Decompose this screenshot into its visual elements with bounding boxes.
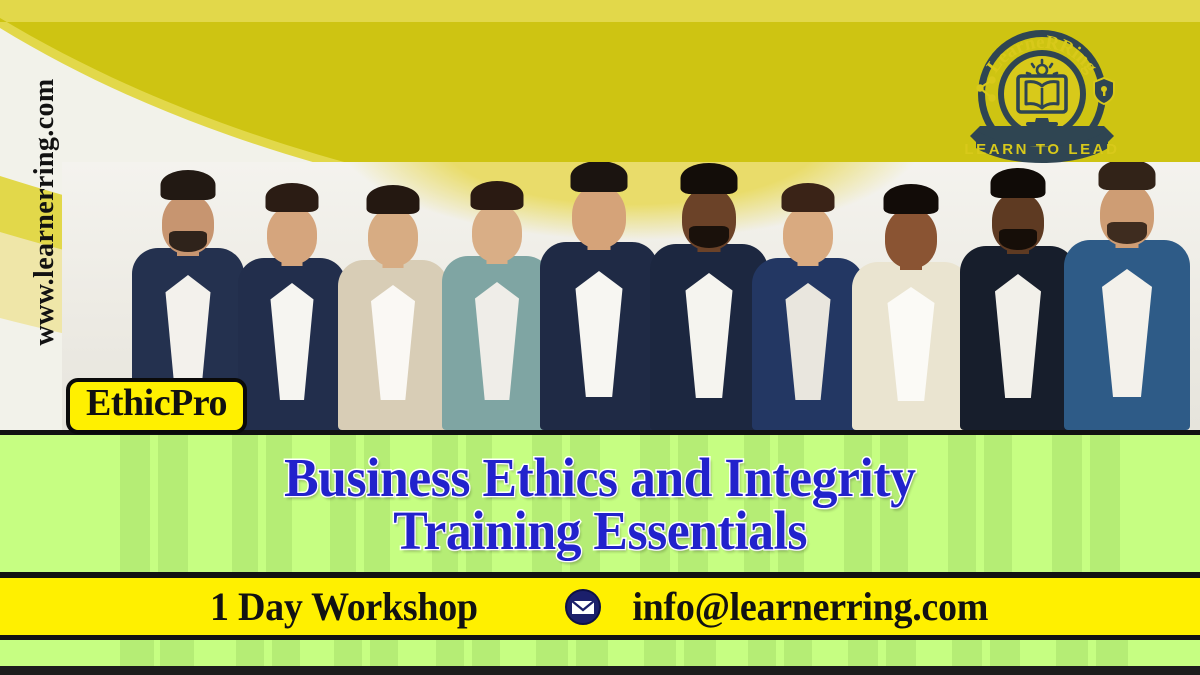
person-6 bbox=[650, 174, 768, 430]
head bbox=[885, 208, 937, 268]
person-10 bbox=[1064, 170, 1190, 430]
hair bbox=[681, 163, 738, 194]
hair bbox=[884, 184, 939, 214]
head bbox=[783, 206, 833, 264]
lower-green-strip bbox=[0, 639, 1200, 669]
person-3 bbox=[338, 194, 448, 430]
head bbox=[267, 206, 317, 264]
silhouette-feet bbox=[0, 639, 1200, 669]
person-8 bbox=[852, 194, 970, 430]
website-url-vertical: www.learnerring.com bbox=[29, 47, 61, 377]
bottom-edge bbox=[0, 666, 1200, 675]
workshop-duration: 1 Day Workshop bbox=[210, 583, 478, 630]
hair bbox=[782, 183, 835, 212]
logo-tagline: LEARN TO LEAD bbox=[964, 141, 1119, 158]
person-9 bbox=[960, 178, 1076, 430]
divider-below-footer bbox=[0, 635, 1200, 640]
hair bbox=[367, 185, 420, 214]
person-5 bbox=[540, 172, 658, 430]
head bbox=[368, 208, 418, 266]
beard bbox=[689, 226, 729, 248]
contact-email[interactable]: info@learnerring.com bbox=[632, 583, 988, 630]
ethicpro-badge: EthicPro bbox=[66, 378, 247, 434]
logo-badge-graphic: LearneRRing bbox=[962, 18, 1122, 178]
hair bbox=[571, 162, 628, 192]
envelope-icon bbox=[563, 587, 603, 627]
hair bbox=[161, 170, 216, 200]
learnerring-logo: LearneRRing bbox=[962, 18, 1122, 178]
book-glyph bbox=[1026, 82, 1058, 108]
beard bbox=[999, 229, 1037, 250]
contact-email-group[interactable]: info@learnerring.com bbox=[563, 583, 997, 630]
person-2 bbox=[238, 192, 346, 430]
beard bbox=[169, 231, 207, 252]
hair bbox=[471, 181, 524, 210]
head bbox=[572, 185, 626, 248]
silhouette-legs bbox=[0, 434, 1200, 576]
person-7 bbox=[752, 192, 864, 430]
beard bbox=[1107, 222, 1147, 244]
person-4 bbox=[442, 190, 552, 430]
hair bbox=[266, 183, 319, 212]
event-promo-banner: LearneRRing bbox=[0, 0, 1200, 675]
title-band bbox=[0, 434, 1200, 576]
shield-lock-icon bbox=[1094, 78, 1114, 104]
head bbox=[472, 204, 522, 262]
footer-info-bar: 1 Day Workshop info@learnerring.com bbox=[0, 578, 1200, 635]
